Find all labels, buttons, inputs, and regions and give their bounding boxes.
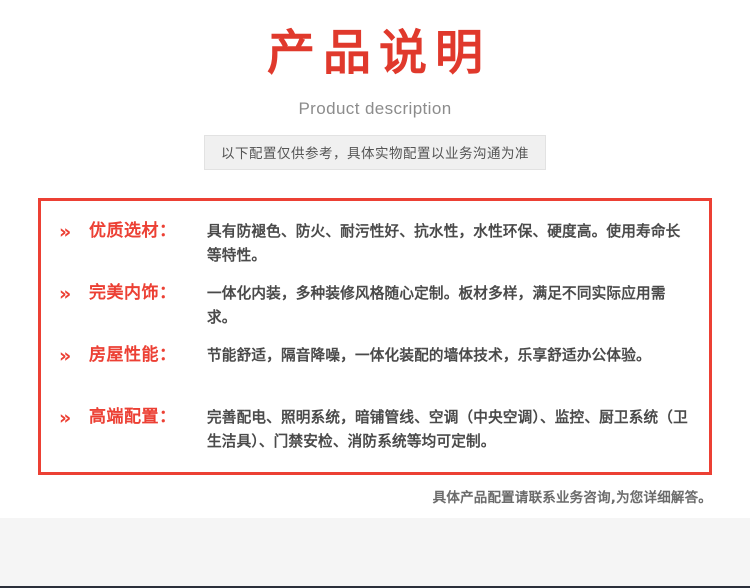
double-chevron-right-icon: » — [55, 283, 89, 307]
feature-row: » 房屋性能： 节能舒适，隔音降噪，一体化装配的墙体技术，乐享舒适办公体验。 — [55, 343, 695, 405]
feature-row: » 高端配置： 完善配电、照明系统，暗铺管线、空调（中央空调）、监控、厨卫系统（… — [55, 405, 695, 467]
feature-text: 一体化内装，多种装修风格随心定制。板材多样，满足不同实际应用需求。 — [201, 281, 695, 330]
double-chevron-right-icon: » — [55, 345, 89, 369]
page-subtitle-english: Product description — [0, 99, 750, 119]
feature-text: 节能舒适，隔音降噪，一体化装配的墙体技术，乐享舒适办公体验。 — [201, 343, 695, 368]
feature-label: 房屋性能： — [89, 343, 201, 368]
page-header: 产品说明 Product description 以下配置仅供参考，具体实物配置… — [0, 0, 750, 170]
notice-bar-wrap: 以下配置仅供参考，具体实物配置以业务沟通为准 — [0, 135, 750, 170]
bottom-band — [0, 518, 750, 587]
feature-label: 完美内饰： — [89, 281, 201, 306]
double-chevron-right-icon: » — [55, 407, 89, 431]
product-description-page: 产品说明 Product description 以下配置仅供参考，具体实物配置… — [0, 0, 750, 588]
feature-row: » 完美内饰： 一体化内装，多种装修风格随心定制。板材多样，满足不同实际应用需求… — [55, 281, 695, 343]
feature-label: 高端配置： — [89, 405, 201, 430]
configuration-notice: 以下配置仅供参考，具体实物配置以业务沟通为准 — [204, 135, 546, 170]
feature-list-box: » 优质选材： 具有防褪色、防火、耐污性好、抗水性，水性环保、硬度高。使用寿命长… — [38, 198, 712, 475]
page-title: 产品说明 — [0, 24, 750, 83]
feature-row: » 优质选材： 具有防褪色、防火、耐污性好、抗水性，水性环保、硬度高。使用寿命长… — [55, 219, 695, 281]
feature-text: 完善配电、照明系统，暗铺管线、空调（中央空调）、监控、厨卫系统（卫生洁具）、门禁… — [201, 405, 695, 454]
feature-label: 优质选材： — [89, 219, 201, 244]
footer-note: 具体产品配置请联系业务咨询,为您详细解答。 — [433, 486, 712, 506]
double-chevron-right-icon: » — [55, 221, 89, 245]
feature-text: 具有防褪色、防火、耐污性好、抗水性，水性环保、硬度高。使用寿命长等特性。 — [201, 219, 695, 268]
